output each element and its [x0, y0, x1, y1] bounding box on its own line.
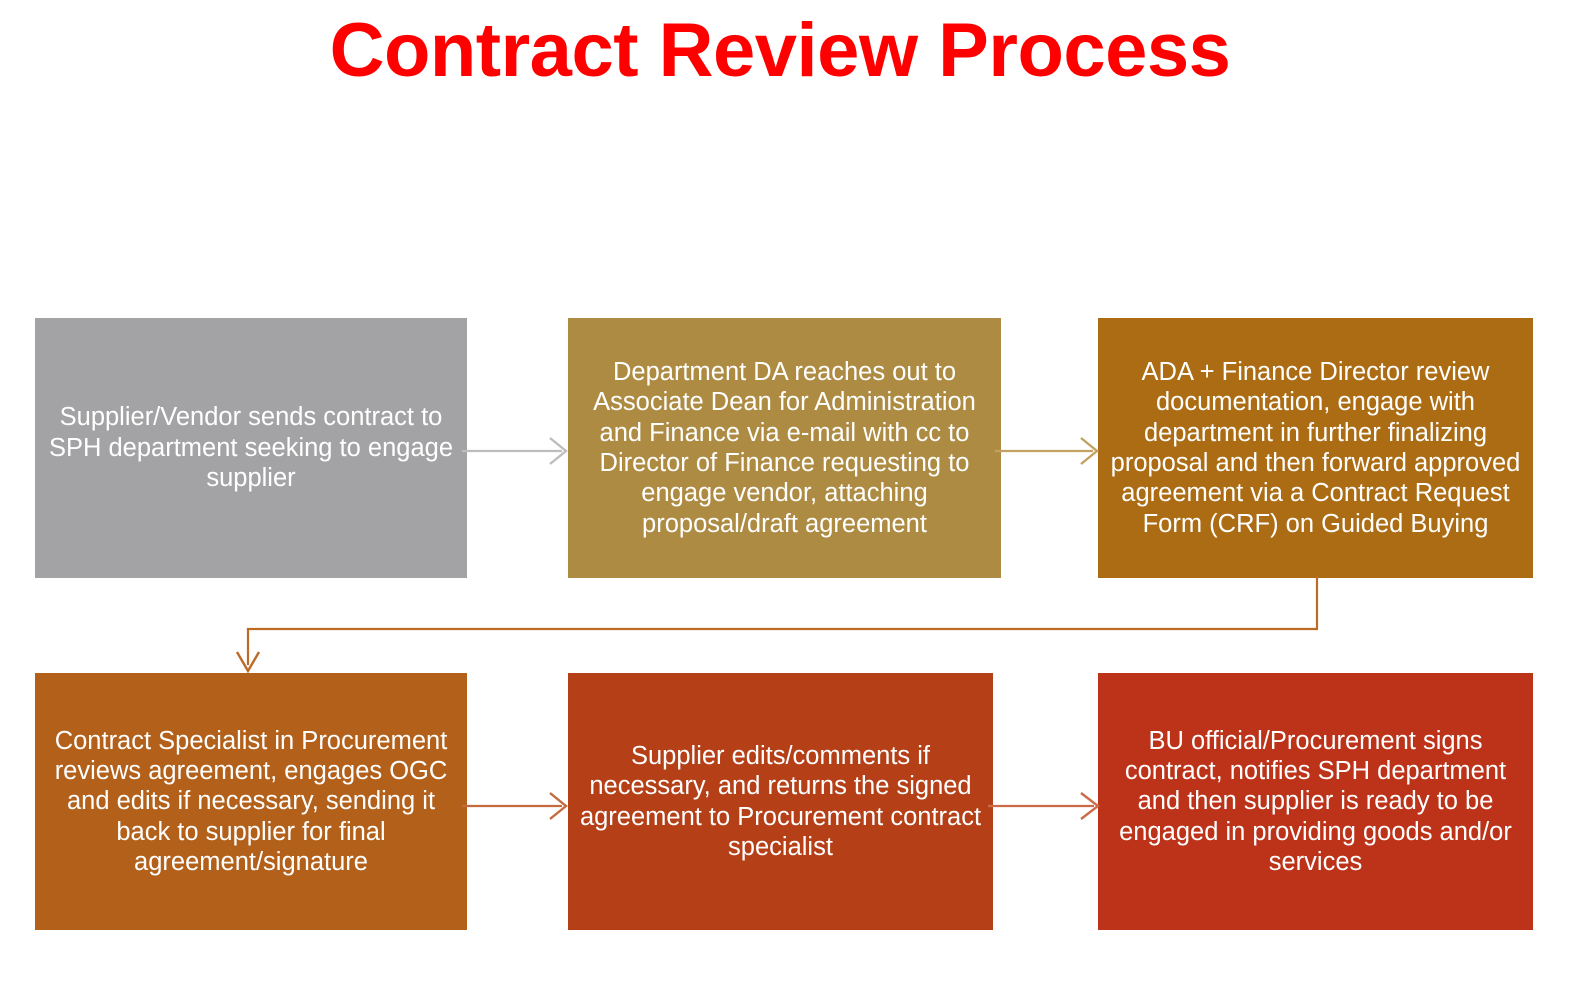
slide-canvas: Contract Review Process Supplier/Vendor … [0, 0, 1580, 990]
process-step-6-label: BU official/Procurement signs contract, … [1108, 726, 1523, 878]
page-title: Contract Review Process [0, 8, 1560, 93]
process-step-2-label: Department DA reaches out to Associate D… [578, 357, 991, 539]
process-step-3[interactable]: ADA + Finance Director review documentat… [1098, 318, 1533, 578]
process-step-1-label: Supplier/Vendor sends contract to SPH de… [45, 402, 457, 493]
process-step-5-label: Supplier edits/comments if necessary, an… [578, 741, 983, 862]
process-step-4-label: Contract Specialist in Procurement revie… [45, 726, 457, 878]
process-step-3-label: ADA + Finance Director review documentat… [1108, 357, 1523, 539]
connector-arrow-step1-to-step2 [460, 425, 575, 477]
process-step-6[interactable]: BU official/Procurement signs contract, … [1098, 673, 1533, 930]
connector-arrow-step2-to-step3 [993, 425, 1108, 477]
connector-arrow-step3-to-step4 [230, 570, 1330, 685]
connector-arrow-step5-to-step6 [986, 780, 1106, 832]
connector-arrow-step4-to-step5 [460, 780, 575, 832]
process-step-4[interactable]: Contract Specialist in Procurement revie… [35, 673, 467, 930]
process-step-2[interactable]: Department DA reaches out to Associate D… [568, 318, 1001, 578]
process-step-5[interactable]: Supplier edits/comments if necessary, an… [568, 673, 993, 930]
process-step-1[interactable]: Supplier/Vendor sends contract to SPH de… [35, 318, 467, 578]
